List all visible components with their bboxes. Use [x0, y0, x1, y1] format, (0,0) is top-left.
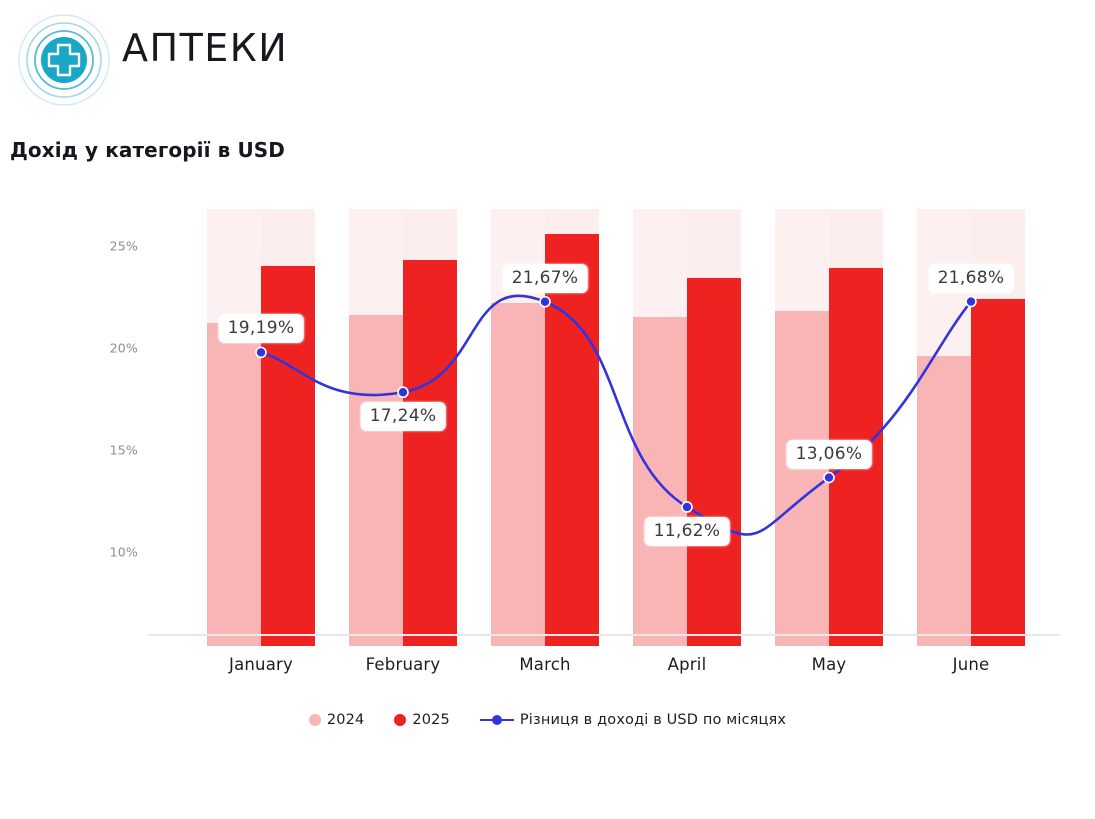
revenue-chart: 25%20%15%10%JanuaryFebruaryMarchAprilMay… — [0, 185, 1095, 655]
x-axis-tick-label: May — [749, 655, 909, 674]
bar-group — [207, 209, 315, 646]
legend-item-label: 2025 — [412, 712, 450, 728]
legend-swatch-dot-icon — [394, 714, 406, 726]
bar-2024[interactable] — [491, 303, 545, 646]
y-axis-tick-label: 10% — [92, 545, 138, 560]
line-point-label: 21,68% — [929, 264, 1014, 293]
line-point-label: 21,67% — [503, 264, 588, 293]
chart-legend: 20242025Різниця в доході в USD по місяця… — [0, 712, 1095, 728]
bar-2024[interactable] — [775, 311, 829, 646]
legend-swatch-dot-icon — [309, 714, 321, 726]
bar-track — [775, 209, 829, 646]
bar-2025[interactable] — [545, 234, 599, 646]
y-axis-tick-label: 25% — [92, 238, 138, 253]
bar-2024[interactable] — [207, 323, 261, 646]
x-axis-tick-label: February — [323, 655, 483, 674]
page-header: АПТЕКИ — [0, 0, 1095, 125]
legend-item-label: 2024 — [327, 712, 365, 728]
y-axis-tick-label: 15% — [92, 442, 138, 457]
legend-item[interactable]: 2025 — [394, 712, 450, 728]
x-axis-tick-label: June — [891, 655, 1051, 674]
bar-track — [261, 209, 315, 646]
brand-title: АПТЕКИ — [122, 26, 288, 70]
bar-group — [775, 209, 883, 646]
bar-2025[interactable] — [687, 278, 741, 646]
bar-2024[interactable] — [917, 356, 971, 646]
bar-2024[interactable] — [349, 315, 403, 646]
line-point-label: 11,62% — [645, 517, 730, 546]
bar-group — [633, 209, 741, 646]
bar-track — [633, 209, 687, 646]
x-axis-tick-label: January — [181, 655, 341, 674]
bar-track — [687, 209, 741, 646]
bar-track — [207, 209, 261, 646]
x-axis-tick-label: April — [607, 655, 767, 674]
y-axis-tick-label: 20% — [92, 340, 138, 355]
legend-item[interactable]: 2024 — [309, 712, 365, 728]
line-point-label: 19,19% — [219, 314, 304, 343]
bar-track — [829, 209, 883, 646]
line-point-label: 13,06% — [787, 440, 872, 469]
chart-title: Дохід у категорії в USD — [10, 138, 285, 162]
x-axis-tick-label: March — [465, 655, 625, 674]
line-point-label: 17,24% — [361, 402, 446, 431]
bar-2025[interactable] — [971, 299, 1025, 646]
legend-swatch-line-icon — [480, 713, 514, 727]
legend-item[interactable]: Різниця в доході в USD по місяцях — [480, 712, 786, 728]
bar-2024[interactable] — [633, 317, 687, 646]
pharmacy-cross-icon — [16, 12, 112, 108]
x-axis-line — [148, 634, 1060, 636]
bar-2025[interactable] — [403, 260, 457, 646]
legend-item-label: Різниця в доході в USD по місяцях — [520, 712, 786, 728]
